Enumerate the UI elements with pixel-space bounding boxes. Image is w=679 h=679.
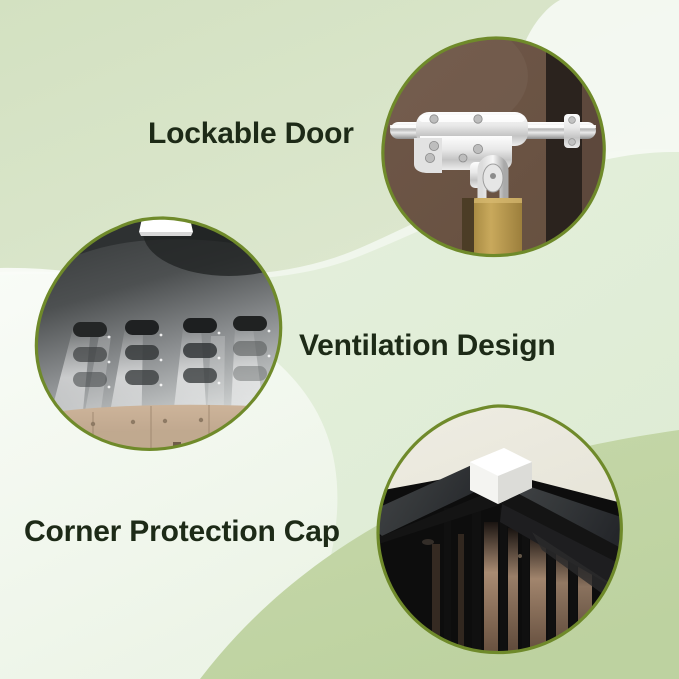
feature-image-lockable-door [378, 36, 606, 258]
infographic-canvas: Lockable Door Ventilation Design Corner … [0, 0, 679, 679]
feature-label-lockable-door: Lockable Door [148, 119, 354, 149]
feature-label-corner-protection-cap: Corner Protection Cap [24, 517, 340, 547]
padlock-body [474, 198, 522, 258]
feature-label-ventilation-design: Ventilation Design [299, 331, 555, 361]
base-panels [33, 405, 283, 454]
feature-image-corner-protection-cap [372, 404, 624, 656]
feature-image-ventilation-design [33, 216, 283, 454]
